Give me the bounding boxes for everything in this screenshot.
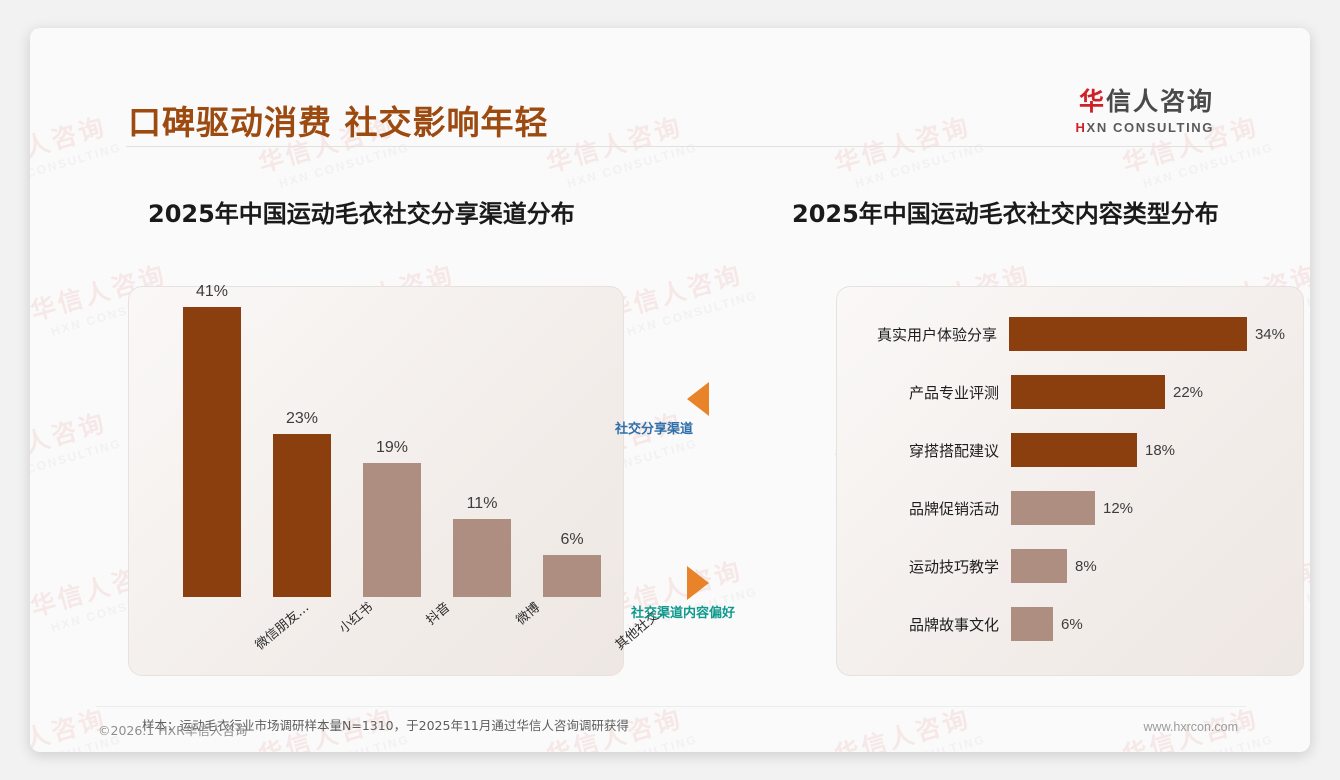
left-chart-title: 2025年中国运动毛衣社交分享渠道分布 [148, 194, 575, 229]
watermark-en: HXN CONSULTING [626, 288, 760, 339]
bar-value-label: 41% [196, 283, 228, 301]
bar-value-label: 19% [376, 439, 408, 457]
category-axis-label: 微博 [511, 597, 543, 628]
bar-rect[interactable] [453, 519, 511, 597]
website-url: www.hxrcon.com [1144, 720, 1238, 734]
bar-column[interactable]: 41% [183, 283, 241, 597]
category-label: 运动技巧教学 [857, 556, 1011, 577]
category-label: 品牌促销活动 [857, 498, 1011, 519]
bar-rect[interactable] [543, 555, 601, 597]
bar-rect[interactable] [1009, 317, 1247, 351]
category-label: 真实用户体验分享 [857, 324, 1009, 345]
watermark-mark: 华信人咨询HXN CONSULTING [30, 400, 123, 490]
bar-value-label: 22% [1173, 384, 1203, 401]
vertical-bar-plot: 41%23%19%11%6% [155, 309, 603, 597]
bar-row[interactable]: 穿搭搭配建议18% [857, 433, 1285, 467]
copyright-text: ©2026.1 HXR华信人咨询 [98, 720, 247, 739]
bar-track: 34% [1009, 317, 1285, 351]
title-divider [126, 146, 1214, 147]
bar-rect[interactable] [1011, 549, 1067, 583]
bar-column[interactable]: 11% [453, 495, 511, 597]
footer-divider [96, 706, 1246, 707]
watermark-mark: 华信人咨询HXN CONSULTING [830, 696, 987, 752]
annotation-label-content-preference: 社交渠道内容偏好 [631, 602, 735, 621]
watermark-mark: 华信人咨询HXN CONSULTING [602, 252, 759, 342]
watermark-cn: 华信人咨询 [830, 696, 983, 752]
logo-cn-accent: 华 [1079, 88, 1106, 116]
logo-english: HXN CONSULTING [1076, 120, 1214, 135]
bar-value-label: 18% [1145, 442, 1175, 459]
watermark-en: HXN CONSULTING [278, 732, 412, 752]
logo-cn-rest: 信人咨询 [1106, 88, 1214, 116]
bar-track: 8% [1011, 549, 1285, 583]
logo-chinese: 华信人咨询 [1076, 88, 1214, 117]
bar-rect[interactable] [363, 463, 421, 597]
bar-row[interactable]: 运动技巧教学8% [857, 549, 1285, 583]
bar-row[interactable]: 产品专业评测22% [857, 375, 1285, 409]
category-label: 穿搭搭配建议 [857, 440, 1011, 461]
right-chart-card: 真实用户体验分享34%产品专业评测22%穿搭搭配建议18%品牌促销活动12%运动… [836, 286, 1304, 676]
watermark-en: HXN CONSULTING [566, 732, 700, 752]
slide-canvas: 华信人咨询HXN CONSULTING华信人咨询HXN CONSULTING华信… [30, 28, 1310, 752]
bar-column[interactable]: 19% [363, 439, 421, 597]
bar-track: 12% [1011, 491, 1285, 525]
left-chart-card: 41%23%19%11%6% 微信朋友…小红书抖音微博其他社交… [128, 286, 624, 676]
page-title: 口碑驱动消费 社交影响年轻 [128, 96, 549, 144]
watermark-cn: 华信人咨询 [30, 400, 119, 476]
bar-row[interactable]: 真实用户体验分享34% [857, 317, 1285, 351]
annotation-label-share-channel: 社交分享渠道 [615, 418, 693, 437]
bar-value-label: 6% [1061, 616, 1083, 633]
bar-rect[interactable] [1011, 375, 1165, 409]
triangle-right-icon [687, 566, 709, 600]
watermark-en: HXN CONSULTING [30, 436, 123, 487]
watermark-en: HXN CONSULTING [854, 732, 988, 752]
right-chart-title: 2025年中国运动毛衣社交内容类型分布 [792, 194, 1219, 229]
bar-value-label: 11% [467, 495, 498, 513]
horizontal-bar-plot: 真实用户体验分享34%产品专业评测22%穿搭搭配建议18%品牌促销活动12%运动… [857, 317, 1285, 651]
vertical-bar-axis-labels: 微信朋友…小红书抖音微博其他社交… [155, 593, 603, 667]
bar-value-label: 8% [1075, 558, 1097, 575]
triangle-left-icon [687, 382, 709, 416]
bar-row[interactable]: 品牌故事文化6% [857, 607, 1285, 641]
category-axis-label: 小红书 [334, 597, 376, 637]
bar-track: 18% [1011, 433, 1285, 467]
bar-value-label: 23% [286, 410, 318, 428]
watermark-cn: 华信人咨询 [602, 252, 755, 328]
brand-logo: 华信人咨询 HXN CONSULTING [1076, 88, 1214, 135]
bar-column[interactable]: 23% [273, 410, 331, 597]
logo-en-rest: XN CONSULTING [1087, 120, 1214, 135]
category-axis-label: 微信朋友… [250, 597, 312, 653]
bar-rect[interactable] [273, 434, 331, 597]
bar-rect[interactable] [1011, 491, 1095, 525]
category-label: 品牌故事文化 [857, 614, 1011, 635]
bar-value-label: 34% [1255, 326, 1285, 343]
category-axis-label: 抖音 [421, 597, 453, 628]
bar-track: 22% [1011, 375, 1285, 409]
annotation-channel-content-preference: 社交渠道内容偏好 [687, 566, 709, 600]
slide-header: 口碑驱动消费 社交影响年轻 华信人咨询 HXN CONSULTING [30, 28, 1310, 156]
logo-en-accent: H [1076, 120, 1087, 135]
bar-value-label: 6% [560, 531, 583, 549]
bar-rect[interactable] [183, 307, 241, 597]
category-label: 产品专业评测 [857, 382, 1011, 403]
bar-value-label: 12% [1103, 500, 1133, 517]
bar-row[interactable]: 品牌促销活动12% [857, 491, 1285, 525]
bar-rect[interactable] [1011, 433, 1137, 467]
bar-track: 6% [1011, 607, 1285, 641]
annotation-social-share-channel: 社交分享渠道 [687, 382, 709, 416]
bar-column[interactable]: 6% [543, 531, 601, 597]
watermark-en: HXN CONSULTING [1142, 732, 1276, 752]
bar-rect[interactable] [1011, 607, 1053, 641]
